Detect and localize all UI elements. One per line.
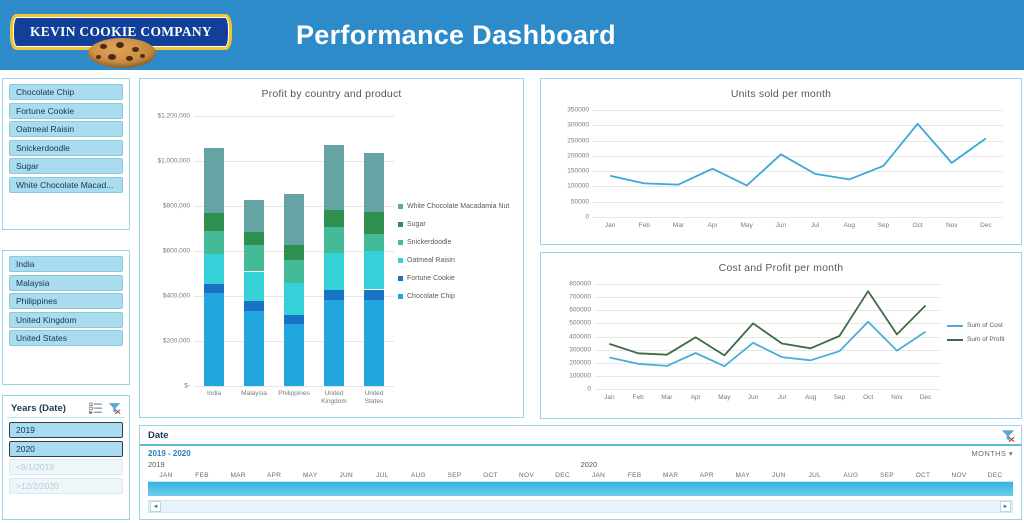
y-axis-tick: 600000 [569, 307, 595, 314]
bar-column[interactable] [284, 194, 304, 386]
country-slicer-item[interactable]: Malaysia [9, 275, 123, 291]
cost-profit-legend: Sum of CostSum of Profit [947, 322, 1024, 350]
x-axis-tick: Apr [708, 222, 718, 230]
bar-segment[interactable] [324, 210, 344, 227]
x-axis-tick: Malaysia [235, 390, 273, 398]
bar-column[interactable] [324, 145, 344, 386]
timeline-month-label: AUG [400, 472, 436, 479]
timeline-month-label: DEC [545, 472, 581, 479]
y-axis-tick: 150000 [567, 168, 593, 175]
x-axis-tick: Oct [863, 394, 873, 402]
product-slicer-item[interactable]: Fortune Cookie [9, 103, 123, 119]
x-axis-tick: Philippines [275, 390, 313, 398]
legend-label: Fortune Cookie [407, 274, 455, 283]
bar-segment[interactable] [364, 234, 384, 251]
timeline-year-2020: 2020 [581, 460, 598, 469]
years-slicer-item[interactable]: >12/2/2020 [9, 478, 123, 494]
x-axis-tick: Sep [878, 222, 890, 230]
country-slicer-item[interactable]: United States [9, 330, 123, 346]
legend-label: Oatmeal Raisin [407, 256, 455, 265]
legend-swatch [947, 339, 963, 341]
y-axis-tick: $200,000 [163, 338, 194, 345]
gridline [593, 217, 1003, 218]
bar-segment[interactable] [244, 245, 264, 271]
x-axis-tick: Apr [691, 394, 701, 402]
y-axis-tick: 0 [585, 214, 593, 221]
company-logo: KEVIN COOKIE COMPANY [10, 8, 232, 64]
cost-profit-chart: Cost and Profit per month 01000002000003… [540, 252, 1022, 419]
timeline-month-label: APR [256, 472, 292, 479]
timeline-month-label: DEC [977, 472, 1013, 479]
bar-segment[interactable] [324, 300, 344, 386]
country-slicer: IndiaMalaysiaPhilippinesUnited KingdomUn… [2, 250, 130, 385]
legend-swatch [947, 325, 963, 327]
timeline-year-2019: 2019 [148, 460, 165, 469]
bar-segment[interactable] [204, 254, 224, 284]
y-axis-tick: 250000 [567, 137, 593, 144]
scroll-left-icon[interactable]: ◄ [150, 501, 161, 512]
clear-filter-icon[interactable] [1001, 429, 1015, 442]
x-axis-tick: Jul [811, 222, 819, 230]
gridline [595, 389, 940, 390]
legend-item[interactable]: Sum of Cost [947, 322, 1024, 329]
x-axis-tick: Feb [639, 222, 650, 230]
timeline-month-label: APR [689, 472, 725, 479]
years-slicer-item[interactable]: 2019 [9, 422, 123, 438]
country-slicer-item[interactable]: Philippines [9, 293, 123, 309]
y-axis-tick: $600,000 [163, 248, 194, 255]
product-slicer-item[interactable]: Oatmeal Raisin [9, 121, 123, 137]
line-series-svg [593, 110, 1003, 217]
x-axis-tick: Jun [776, 222, 786, 230]
bar-segment[interactable] [364, 300, 384, 386]
timeline-month-label: JUL [364, 472, 400, 479]
x-axis-tick: United Kingdom [315, 390, 353, 406]
timeline-month-label: JAN [148, 472, 184, 479]
cookie-icon [88, 38, 156, 68]
x-axis-tick: Sep [834, 394, 846, 402]
timeline-month-labels: JANFEBMARAPRMAYJUNJULAUGSEPOCTNOVDECJANF… [148, 472, 1013, 479]
legend-item[interactable]: Oatmeal Raisin [398, 256, 518, 265]
y-axis-tick: 350000 [567, 107, 593, 114]
y-axis-tick: 200000 [569, 359, 595, 366]
timeline-month-label: OCT [905, 472, 941, 479]
bar-segment[interactable] [284, 315, 304, 324]
years-slicer-title: Years (Date) [11, 403, 66, 414]
product-slicer-item[interactable]: Sugar [9, 158, 123, 174]
x-axis-tick: Feb [633, 394, 644, 402]
x-axis-tick: Jul [778, 394, 786, 402]
y-axis-tick: $- [184, 383, 194, 390]
bar-segment[interactable] [364, 290, 384, 300]
y-axis-tick: 800000 [569, 281, 595, 288]
y-axis-tick: 700000 [569, 294, 595, 301]
x-axis-tick: Mar [673, 222, 684, 230]
profit-by-country-chart: Profit by country and product $-$200,000… [139, 78, 524, 418]
x-axis-tick: Jun [748, 394, 758, 402]
timeline-month-label: AUG [833, 472, 869, 479]
product-slicer: Chocolate ChipFortune CookieOatmeal Rais… [2, 78, 130, 230]
bar-segment[interactable] [324, 145, 344, 210]
cost-profit-plot-area: 0100000200000300000400000500000600000700… [595, 284, 940, 389]
x-axis-tick: Dec [920, 394, 932, 402]
bar-plot-area: $-$200,000$400,000$600,000$800,000$1,000… [194, 116, 394, 386]
bar-segment[interactable] [244, 272, 264, 302]
product-slicer-item[interactable]: Chocolate Chip [9, 84, 123, 100]
y-axis-tick: $400,000 [163, 293, 194, 300]
legend-swatch [398, 240, 403, 245]
line-series-svg [595, 284, 940, 389]
x-axis-tick: May [718, 394, 730, 402]
y-axis-tick: 500000 [569, 320, 595, 327]
x-axis-tick: Aug [843, 222, 855, 230]
timeline-period-selector[interactable]: MONTHS ▾ [971, 449, 1013, 458]
timeline-month-label: MAR [653, 472, 689, 479]
page-title: Performance Dashboard [296, 20, 616, 51]
units-plot-area: 0500001000001500002000002500003000003500… [593, 110, 1003, 217]
product-slicer-item[interactable]: Snickerdoodle [9, 140, 123, 156]
country-slicer-item[interactable]: United Kingdom [9, 312, 123, 328]
x-axis-tick: India [195, 390, 233, 398]
bar-column[interactable] [244, 200, 264, 386]
years-slicer-item[interactable]: 2020 [9, 441, 123, 457]
x-axis-tick: Nov [946, 222, 958, 230]
bar-segment[interactable] [244, 301, 264, 311]
bar-segment[interactable] [284, 324, 304, 386]
timeline-month-label: FEB [184, 472, 220, 479]
bar-chart-legend: White Chocolate Macadamia NutSugarSnicke… [398, 202, 518, 310]
multi-select-icon[interactable] [89, 402, 102, 414]
units-sold-chart: Units sold per month 0500001000001500002… [540, 78, 1022, 245]
gridline [194, 386, 394, 387]
y-axis-tick: $1,000,000 [157, 158, 194, 165]
chart-title: Cost and Profit per month [547, 257, 1015, 274]
timeline-month-label: SEP [869, 472, 905, 479]
x-axis-tick: Aug [805, 394, 817, 402]
y-axis-tick: 100000 [569, 372, 595, 379]
timeline-month-label: FEB [617, 472, 653, 479]
timeline-month-label: OCT [472, 472, 508, 479]
timeline-header: Date [140, 426, 1021, 446]
legend-item[interactable]: Sugar [398, 220, 518, 229]
timeline-month-label: SEP [436, 472, 472, 479]
bar-column[interactable] [204, 148, 224, 386]
y-axis-tick: 200000 [567, 152, 593, 159]
legend-swatch [398, 258, 403, 263]
bar-segment[interactable] [324, 227, 344, 253]
bar-segment[interactable] [364, 212, 384, 234]
y-axis-tick: 400000 [569, 333, 595, 340]
timeline-range-label: 2019 - 2020 [148, 449, 191, 458]
chart-title: Units sold per month [547, 83, 1015, 100]
x-axis-tick: May [741, 222, 753, 230]
y-axis-tick: 50000 [571, 198, 593, 205]
timeline-month-label: NOV [508, 472, 544, 479]
y-axis-tick: 100000 [567, 183, 593, 190]
bar-segment[interactable] [284, 245, 304, 260]
bar-segment[interactable] [204, 148, 224, 213]
bar-segment[interactable] [364, 153, 384, 212]
timeline-month-label: JAN [581, 472, 617, 479]
x-axis-tick: Mar [661, 394, 672, 402]
bar-segment[interactable] [284, 260, 304, 283]
years-slicer: Years (Date) 20192020<9/1/2019>12/2/2020 [2, 395, 130, 520]
timeline-month-label: JUN [328, 472, 364, 479]
x-axis-tick: United States [355, 390, 393, 406]
legend-item[interactable]: White Chocolate Macadamia Nut [398, 202, 518, 211]
x-axis-tick: Oct [913, 222, 923, 230]
legend-label: Sum of Cost [967, 322, 1003, 329]
years-slicer-header: Years (Date) [7, 401, 125, 418]
legend-label: White Chocolate Macadamia Nut [407, 202, 509, 211]
bar-column[interactable] [364, 153, 384, 386]
bar-segment[interactable] [364, 251, 384, 289]
y-axis-tick: 300000 [569, 346, 595, 353]
bar-segment[interactable] [204, 284, 224, 293]
legend-item[interactable]: Chocolate Chip [398, 292, 518, 301]
timeline-month-label: MAR [220, 472, 256, 479]
bar-segment[interactable] [324, 253, 344, 290]
timeline-month-label: JUN [761, 472, 797, 479]
y-axis-tick: 0 [587, 386, 595, 393]
legend-swatch [398, 294, 403, 299]
dashboard-header: KEVIN COOKIE COMPANY Performance Dashboa… [0, 0, 1024, 70]
bar-segment[interactable] [204, 213, 224, 231]
x-axis-tick: Nov [891, 394, 903, 402]
legend-swatch [398, 204, 403, 209]
scroll-right-icon[interactable]: ► [1000, 501, 1011, 512]
timeline-month-label: MAY [725, 472, 761, 479]
timeline-title: Date [148, 430, 169, 441]
bar-segment[interactable] [244, 200, 264, 232]
y-axis-tick: $800,000 [163, 203, 194, 210]
x-axis-tick: Dec [980, 222, 992, 230]
date-timeline: Date 2019 - 2020 MONTHS ▾ 2019 2020 JANF… [139, 425, 1022, 520]
bar-segment[interactable] [324, 290, 344, 300]
timeline-month-label: JUL [797, 472, 833, 479]
legend-item[interactable]: Sum of Profit [947, 336, 1024, 343]
timeline-selection[interactable] [148, 482, 1013, 496]
timeline-track[interactable] [148, 481, 1013, 496]
country-slicer-item[interactable]: India [9, 256, 123, 272]
legend-swatch [398, 222, 403, 227]
legend-swatch [398, 276, 403, 281]
x-axis-tick: Jan [604, 394, 614, 402]
timeline-scrollbar[interactable]: ◄ ► [148, 500, 1013, 513]
legend-label: Sum of Profit [967, 336, 1005, 343]
legend-label: Sugar [407, 220, 426, 229]
x-axis-tick: Jan [605, 222, 615, 230]
legend-item[interactable]: Snickerdoodle [398, 238, 518, 247]
gridline [194, 116, 394, 117]
clear-filter-icon[interactable] [108, 402, 121, 414]
timeline-month-label: NOV [941, 472, 977, 479]
bar-segment[interactable] [204, 293, 224, 386]
bar-segment[interactable] [204, 231, 224, 254]
y-axis-tick: $1,200,000 [157, 113, 194, 120]
legend-item[interactable]: Fortune Cookie [398, 274, 518, 283]
years-slicer-item[interactable]: <9/1/2019 [9, 459, 123, 475]
bar-segment[interactable] [284, 283, 304, 315]
chart-title: Profit by country and product [146, 83, 517, 100]
legend-label: Chocolate Chip [407, 292, 455, 301]
y-axis-tick: 300000 [567, 122, 593, 129]
bar-segment[interactable] [244, 311, 264, 386]
product-slicer-item[interactable]: White Chocolate Macad... [9, 177, 123, 193]
bar-segment[interactable] [284, 194, 304, 245]
legend-label: Snickerdoodle [407, 238, 451, 247]
timeline-month-label: MAY [292, 472, 328, 479]
bar-segment[interactable] [244, 232, 264, 245]
